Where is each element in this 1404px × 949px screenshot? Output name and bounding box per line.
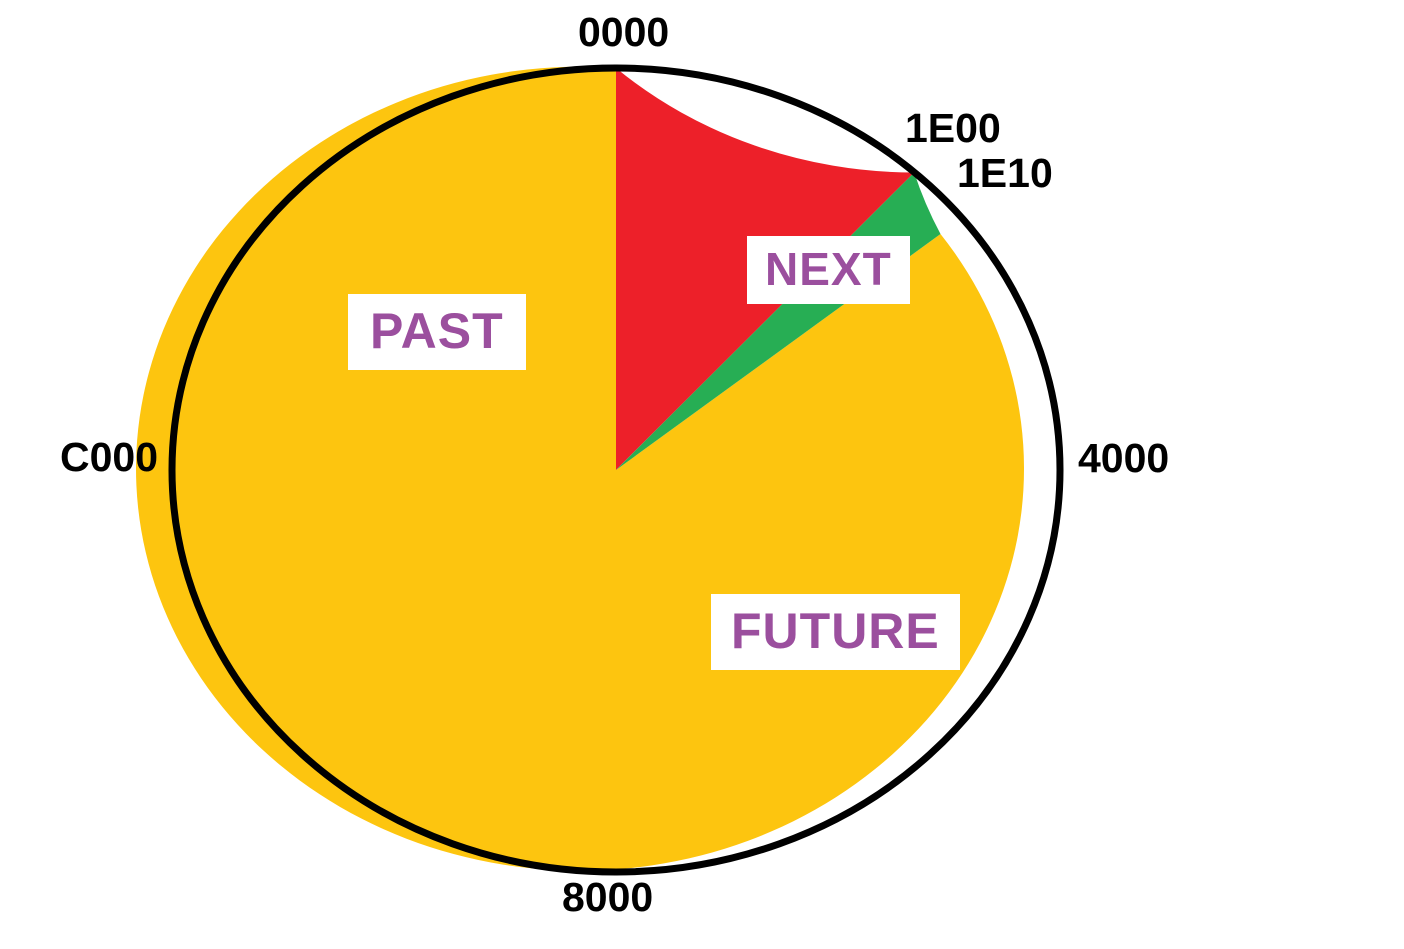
sector-label-future: FUTURE	[711, 594, 960, 670]
tick-label-0000: 0000	[578, 12, 669, 53]
tick-label-1e10: 1E10	[957, 153, 1053, 194]
sector-label-next: NEXT	[747, 236, 910, 304]
ring-wheel-svg	[0, 0, 1404, 949]
tick-label-8000: 8000	[562, 877, 653, 918]
tick-label-c000: C000	[60, 437, 158, 478]
tick-label-1e00: 1E00	[905, 108, 1001, 149]
tick-label-4000: 4000	[1078, 438, 1169, 479]
sector-label-past: PAST	[348, 294, 526, 370]
diagram-canvas: 0000 1E00 1E10 4000 8000 C000 PAST NEXT …	[0, 0, 1404, 949]
